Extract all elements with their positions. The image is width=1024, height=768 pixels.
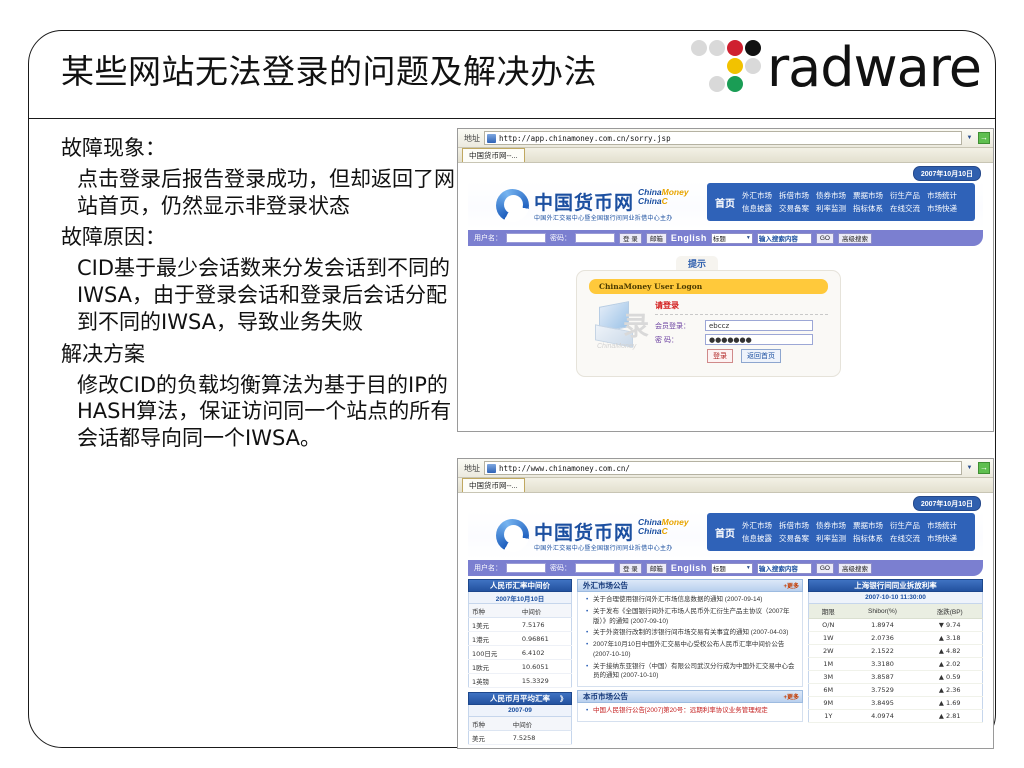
dialog-password-label: 密 码： xyxy=(655,335,705,345)
browser-screenshot-home: 地址 http://www.chinamoney.com.cn/ ▼ → 中国货… xyxy=(457,458,994,749)
nav-row-1: 外汇市场拆借市场债券市场票据市场衍生产品市场统计 xyxy=(742,190,957,201)
logo-dot-8 xyxy=(691,76,707,92)
logo-dot-2 xyxy=(727,40,743,56)
table-row: 1美元7.5176 xyxy=(469,618,572,632)
browser-tab-2[interactable]: 中国货币网--... xyxy=(462,478,525,492)
radware-dots-icon xyxy=(691,40,762,93)
table-row: 1港元0.96861 xyxy=(469,632,572,646)
brand-en: ChinaMoneyChinaC xyxy=(638,188,689,206)
mail-button[interactable]: 邮箱 xyxy=(646,233,667,244)
nav-link[interactable]: 债券市场 xyxy=(816,190,846,201)
address-url-text-2: http://www.chinamoney.com.cn/ xyxy=(499,464,630,473)
table-row: 1英镑15.3329 xyxy=(469,674,572,688)
logo-dot-7 xyxy=(745,58,761,74)
news-item[interactable]: 2007年10月10日中国外汇交易中心受权公布人民币汇率中间价公告 (2007-… xyxy=(586,640,799,660)
address-dropdown-icon-2[interactable]: ▼ xyxy=(964,462,975,475)
shibor-change-cell: ▲ 2.02 xyxy=(917,658,982,671)
news-item[interactable]: 中国人民银行公告[2007]第20号：远期利率协议业务管理规定 xyxy=(586,706,799,716)
avg-panel-title-text: 人民币月平均汇率 xyxy=(490,693,550,704)
column-header: 中间价 xyxy=(519,604,572,618)
logon-dialog: ChinaMoney User Logon 录 ChinaMoney 请登录 xyxy=(576,270,841,377)
logo-dot-3 xyxy=(745,40,761,56)
shibor-term-cell: 2W xyxy=(809,645,848,658)
nav-link[interactable]: 指标体系 xyxy=(853,533,883,544)
shibor-rate-cell: 4.0974 xyxy=(848,710,918,723)
shibor-panel-title: 上海银行间同业拆放利率 xyxy=(808,579,983,592)
shibor-table-header: 期限Shibor(%)涨跌(BP) xyxy=(809,604,983,619)
ghost-brand: ChinaMoney xyxy=(597,343,636,350)
main-nav-1: 首页 外汇市场拆借市场债券市场票据市场衍生产品市场统计 信息披露交易备案利率监测… xyxy=(707,183,975,221)
address-input[interactable]: http://app.chinamoney.com.cn/sorry.jsp xyxy=(484,131,962,145)
column-right: 上海银行间同业拆放利率 2007-10-10 11:30:00 期限Shibor… xyxy=(808,579,983,749)
logo-dot-1 xyxy=(709,40,725,56)
nav-row-4: 信息披露交易备案利率监测指标体系在线交流市场快递 xyxy=(742,533,957,544)
shibor-term-cell: 9M xyxy=(809,697,848,710)
rate-panel-date: 2007年10月10日 xyxy=(468,592,572,604)
logo-dot-4 xyxy=(691,58,707,74)
date-badge: 2007年10月10日 xyxy=(913,166,981,181)
password-input[interactable] xyxy=(575,233,615,243)
nav-link[interactable]: 债券市场 xyxy=(816,520,846,531)
ghost-char: 录 xyxy=(623,306,649,343)
divider xyxy=(655,314,828,315)
home-columns: 人民币汇率中间价 2007年10月10日 币种中间价 1美元7.51761港元0… xyxy=(458,576,993,749)
password-row: 密 码： ●●●●●●● xyxy=(655,334,828,345)
page-content-home: 2007年10月10日 中国货币网ChinaMoneyChinaC 中国外汇交易… xyxy=(458,493,993,749)
column-header: Shibor(%) xyxy=(848,604,918,619)
nav-home-link[interactable]: 首页 xyxy=(711,195,742,210)
chevron-down-icon-2: ▼ xyxy=(746,565,751,571)
radware-wordmark: radware xyxy=(767,41,981,95)
main-nav-2: 首页 外汇市场拆借市场债券市场票据市场衍生产品市场统计 信息披露交易备案利率监测… xyxy=(707,513,975,551)
avg-rate-table: 币种中间价 美元7.5258 xyxy=(468,717,572,745)
shibor-rate-cell: 1.8974 xyxy=(848,619,918,632)
column-header: 币种 xyxy=(469,717,510,731)
mail-button-2[interactable]: 邮箱 xyxy=(646,563,667,574)
table-row: 1Y4.0974▲ 2.81 xyxy=(809,710,983,723)
address-input-2[interactable]: http://www.chinamoney.com.cn/ xyxy=(484,461,962,475)
nav-link[interactable]: 市场统计 xyxy=(927,190,957,201)
chevron-down-icon: ▼ xyxy=(746,235,751,241)
page-icon xyxy=(487,134,496,143)
nav-link[interactable]: 衍生产品 xyxy=(890,190,920,201)
english-link[interactable]: English xyxy=(671,233,707,243)
login-button[interactable]: 登 录 xyxy=(619,233,642,244)
brand-cn-2: 中国货币网 xyxy=(534,522,634,544)
news-item[interactable]: 关于外资银行改制的涉银行间市场交易有关事宜的通知 (2007-04-03) xyxy=(586,628,799,638)
english-link-2[interactable]: English xyxy=(671,563,707,573)
monitor-illustration-icon: 录 ChinaMoney xyxy=(589,300,651,358)
shibor-change-cell: ▼ 9.74 xyxy=(917,619,982,632)
content-block-2: 解决方案修改CID的负载均衡算法为基于目的IP的HASH算法，保证访问同一个站点… xyxy=(61,341,456,452)
logo-dot-5 xyxy=(709,58,725,74)
avg-table-header: 币种中间价 xyxy=(469,717,572,731)
brand-names: 中国货币网ChinaMoneyChinaC 中国外汇交易中心暨全国银行间同业拆借… xyxy=(534,188,689,222)
logo-dot-9 xyxy=(709,76,725,92)
member-login-input[interactable]: ebccz xyxy=(705,320,813,331)
shibor-change-cell: ▲ 3.18 xyxy=(917,632,982,645)
table-cell: 0.96861 xyxy=(519,632,572,646)
table-cell: 7.5258 xyxy=(510,731,572,745)
password-label: 密码： xyxy=(550,233,571,243)
column-left: 人民币汇率中间价 2007年10月10日 币种中间价 1美元7.51761港元0… xyxy=(468,579,572,749)
shibor-term-cell: O/N xyxy=(809,619,848,632)
column-header: 期限 xyxy=(809,604,848,619)
search-go-button-2[interactable]: GO xyxy=(816,563,834,574)
rate-table: 币种中间价 1美元7.51761港元0.96861100日元6.41021欧元1… xyxy=(468,604,572,688)
tab-strip-2: 中国货币网--... xyxy=(458,478,993,493)
nav-link[interactable]: 外汇市场 xyxy=(742,520,772,531)
nav-link[interactable]: 交易备案 xyxy=(779,533,809,544)
logon-header: ChinaMoney User Logon xyxy=(589,279,828,294)
address-go-icon[interactable]: → xyxy=(978,132,990,144)
column-header: 币种 xyxy=(469,604,519,618)
news-item[interactable]: 关于合理使用银行间外汇市场信息数据的通知 (2007-09-14) xyxy=(586,595,799,605)
nav-link[interactable]: 市场快递 xyxy=(927,533,957,544)
address-bar-2[interactable]: 地址 http://www.chinamoney.com.cn/ ▼ → xyxy=(458,459,993,478)
table-row: 1欧元10.6051 xyxy=(469,660,572,674)
rate-panel: 人民币汇率中间价 2007年10月10日 币种中间价 1美元7.51761港元0… xyxy=(468,579,572,688)
avg-panel-title: 人民币月平均汇率 》 xyxy=(468,692,572,705)
brand-subtitle-2: 中国外汇交易中心暨全国银行间同业拆借中心主办 xyxy=(534,546,689,552)
logon-body: 录 ChinaMoney 请登录 会员登录： ebccz 密 码： xyxy=(589,300,828,363)
nav-row-3: 外汇市场拆借市场债券市场票据市场衍生产品市场统计 xyxy=(742,520,957,531)
brand-en-3b: China xyxy=(638,526,662,536)
address-label: 地址 xyxy=(464,133,480,144)
brand-subtitle: 中国外汇交易中心暨全国银行间同业拆借中心主办 xyxy=(534,216,689,222)
nav-link[interactable]: 拆借市场 xyxy=(779,190,809,201)
shibor-timestamp: 2007-10-10 11:30:00 xyxy=(808,592,983,604)
local-news-list: 中国人民银行公告[2007]第20号：远期利率协议业务管理规定 xyxy=(577,703,803,722)
content-block-1: 故障原因：CID基于最少会话数来分发会话到不同的IWSA，由于登录会话和登录后会… xyxy=(61,224,456,335)
dialog-password-input[interactable]: ●●●●●●● xyxy=(705,334,813,345)
banner-search-bar-2: 用户名： 密码： 登 录 邮箱 English 标题 ▼ 输入搜索内容 GO 高… xyxy=(468,560,983,576)
table-row: 1W2.0736▲ 3.18 xyxy=(809,632,983,645)
avg-table-body: 美元7.5258 xyxy=(469,731,572,745)
table-row: 1M3.3180▲ 2.02 xyxy=(809,658,983,671)
nav-link[interactable]: 票据市场 xyxy=(853,520,883,531)
rate-table-body: 1美元7.51761港元0.96861100日元6.41021欧元10.6051… xyxy=(469,618,572,688)
table-cell: 7.5176 xyxy=(519,618,572,632)
slide-title-bar: 某些网站无法登录的问题及解决办法 radware xyxy=(29,31,995,119)
site-banner: 中国货币网ChinaMoneyChinaC 中国外汇交易中心暨全国银行间同业拆借… xyxy=(468,181,983,229)
brand-en-3: China xyxy=(638,196,662,206)
table-cell: 1港元 xyxy=(469,632,519,646)
nav-link[interactable]: 拆借市场 xyxy=(779,520,809,531)
content-body-0: 点击登录后报告登录成功，但却返回了网站首页，仍然显示非登录状态 xyxy=(77,166,456,220)
username-input-2[interactable] xyxy=(506,563,546,573)
banner-search-bar-1: 用户名： 密码： 登 录 邮箱 English 标题 ▼ 输入搜索内容 GO 高… xyxy=(468,230,983,246)
news-item[interactable]: 关于接纳东亚银行（中国）有限公司武汉分行成为中国外汇交易中心会员的通知 (200… xyxy=(586,662,799,682)
content-body-2: 修改CID的负载均衡算法为基于目的IP的HASH算法，保证访问同一个站点的所有会… xyxy=(77,372,456,453)
please-login-text: 请登录 xyxy=(655,300,828,311)
search-scope-select-2[interactable]: 标题 ▼ xyxy=(711,563,753,574)
chinamoney-banner-wrap-1: 2007年10月10日 中国货币网ChinaMoneyChinaC 中国外汇交易… xyxy=(458,163,993,246)
logon-buttons: 登录 返回首页 xyxy=(707,349,828,363)
browser-tab[interactable]: 中国货币网--... xyxy=(462,148,525,162)
address-url-text: http://app.chinamoney.com.cn/sorry.jsp xyxy=(499,134,671,143)
more-arrow-icon[interactable]: 》 xyxy=(560,694,567,704)
avg-rate-panel: 人民币月平均汇率 》 2007-09 币种中间价 美元7.5258 xyxy=(468,692,572,745)
brand-en-4: C xyxy=(662,196,668,206)
content-heading-2: 解决方案 xyxy=(61,341,456,369)
address-label-2: 地址 xyxy=(464,463,480,474)
slide-body-text: 故障现象：点击登录后报告登录成功，但却返回了网站首页，仍然显示非登录状态故障原因… xyxy=(61,135,456,457)
radware-logo: radware xyxy=(691,41,981,95)
browser-screenshot-login: 地址 http://app.chinamoney.com.cn/sorry.js… xyxy=(457,128,994,432)
shibor-rate-cell: 3.7529 xyxy=(848,684,918,697)
submit-login-button[interactable]: 登录 xyxy=(707,349,733,363)
shibor-term-cell: 1W xyxy=(809,632,848,645)
search-go-button[interactable]: GO xyxy=(816,233,834,244)
swirl-icon xyxy=(496,189,529,222)
shibor-table-body: O/N1.8974▼ 9.741W2.0736▲ 3.182W2.1522▲ 4… xyxy=(809,619,983,723)
nav-link[interactable]: 衍生产品 xyxy=(890,520,920,531)
search-scope-select[interactable]: 标题 ▼ xyxy=(711,233,753,244)
tab-strip: 中国货币网--... xyxy=(458,148,993,163)
shibor-change-cell: ▲ 2.81 xyxy=(917,710,982,723)
advanced-search-button[interactable]: 高级搜索 xyxy=(838,233,872,244)
column-middle: 外汇市场公告 +更多 关于合理使用银行间外汇市场信息数据的通知 (2007-09… xyxy=(577,579,803,749)
nav-link[interactable]: 利率监测 xyxy=(816,533,846,544)
rate-table-header: 币种中间价 xyxy=(469,604,572,618)
member-login-label: 会员登录： xyxy=(655,321,705,331)
brand-en-alt: ChinaMoneyChinaC xyxy=(638,518,689,536)
nav-link[interactable]: 信息披露 xyxy=(742,203,772,214)
shibor-rate-cell: 2.1522 xyxy=(848,645,918,658)
content-heading-0: 故障现象： xyxy=(61,135,456,163)
search-scope-value: 标题 xyxy=(713,233,726,243)
table-cell: 1欧元 xyxy=(469,660,519,674)
shibor-term-cell: 6M xyxy=(809,684,848,697)
username-label-2: 用户名： xyxy=(474,563,502,573)
content-block-0: 故障现象：点击登录后报告登录成功，但却返回了网站首页，仍然显示非登录状态 xyxy=(61,135,456,219)
nav-link[interactable]: 外汇市场 xyxy=(742,190,772,201)
rate-panel-title: 人民币汇率中间价 xyxy=(468,579,572,592)
password-input-2[interactable] xyxy=(575,563,615,573)
table-cell: 15.3329 xyxy=(519,674,572,688)
table-cell: 100日元 xyxy=(469,646,519,660)
table-cell: 10.6051 xyxy=(519,660,572,674)
table-row: O/N1.8974▼ 9.74 xyxy=(809,619,983,632)
nav-link[interactable]: 市场统计 xyxy=(927,520,957,531)
nav-link[interactable]: 交易备案 xyxy=(779,203,809,214)
shibor-change-cell: ▲ 0.59 xyxy=(917,671,982,684)
table-row: 2W2.1522▲ 4.82 xyxy=(809,645,983,658)
shibor-rate-cell: 3.3180 xyxy=(848,658,918,671)
content-heading-1: 故障原因： xyxy=(61,224,456,252)
brand-names-2: 中国货币网ChinaMoneyChinaC 中国外汇交易中心暨全国银行间同业拆借… xyxy=(534,518,689,552)
fx-news-header: 外汇市场公告 +更多 xyxy=(577,579,803,592)
avg-panel-date: 2007-09 xyxy=(468,705,572,717)
search-scope-value-2: 标题 xyxy=(713,563,726,573)
date-badge-2: 2007年10月10日 xyxy=(913,496,981,511)
nav-link[interactable]: 在线交流 xyxy=(890,203,920,214)
logon-fields: 请登录 会员登录： ebccz 密 码： ●●●●●●● xyxy=(651,300,828,363)
fx-news-list: 关于合理使用银行间外汇市场信息数据的通知 (2007-09-14)关于发布《全国… xyxy=(577,592,803,687)
local-news-title: 本币市场公告 xyxy=(583,691,628,702)
login-button-2[interactable]: 登 录 xyxy=(619,563,642,574)
address-bar[interactable]: 地址 http://app.chinamoney.com.cn/sorry.js… xyxy=(458,129,993,148)
shibor-rate-cell: 2.0736 xyxy=(848,632,918,645)
local-news-more-link[interactable]: +更多 xyxy=(783,692,799,701)
table-row: 6M3.7529▲ 2.36 xyxy=(809,684,983,697)
page-title: 某些网站无法登录的问题及解决办法 xyxy=(61,45,597,93)
shibor-term-cell: 1M xyxy=(809,658,848,671)
shibor-rate-cell: 3.8495 xyxy=(848,697,918,710)
slide-frame: 某些网站无法登录的问题及解决办法 radware 故障现象：点击登录后报告登录成… xyxy=(28,30,996,748)
username-label: 用户名： xyxy=(474,233,502,243)
shibor-rate-cell: 3.8587 xyxy=(848,671,918,684)
nav-link[interactable]: 指标体系 xyxy=(853,203,883,214)
table-cell: 美元 xyxy=(469,731,510,745)
shibor-term-cell: 1Y xyxy=(809,710,848,723)
brand-cn: 中国货币网 xyxy=(534,192,634,214)
nav-link[interactable]: 在线交流 xyxy=(890,533,920,544)
shibor-term-cell: 3M xyxy=(809,671,848,684)
logo-dot-11 xyxy=(745,76,761,92)
nav-links-1: 外汇市场拆借市场债券市场票据市场衍生产品市场统计 信息披露交易备案利率监测指标体… xyxy=(742,190,957,214)
member-login-row: 会员登录： ebccz xyxy=(655,320,828,331)
logo-dot-6 xyxy=(727,58,743,74)
table-cell: 1美元 xyxy=(469,618,519,632)
chinamoney-logo-2[interactable]: 中国货币网ChinaMoneyChinaC 中国外汇交易中心暨全国银行间同业拆借… xyxy=(468,518,689,552)
nav-home-link-2[interactable]: 首页 xyxy=(711,525,742,540)
table-row: 9M3.8495▲ 1.69 xyxy=(809,697,983,710)
nav-link[interactable]: 票据市场 xyxy=(853,190,883,201)
back-home-button[interactable]: 返回首页 xyxy=(741,349,781,363)
nav-link[interactable]: 信息披露 xyxy=(742,533,772,544)
advanced-search-button-2[interactable]: 高级搜索 xyxy=(838,563,872,574)
site-banner-2: 中国货币网ChinaMoneyChinaC 中国外汇交易中心暨全国银行间同业拆借… xyxy=(468,511,983,559)
fx-news-title: 外汇市场公告 xyxy=(583,580,628,591)
brand-en-4b: C xyxy=(662,526,668,536)
username-input[interactable] xyxy=(506,233,546,243)
fx-news-more-link[interactable]: +更多 xyxy=(783,581,799,590)
table-row: 3M3.8587▲ 0.59 xyxy=(809,671,983,684)
news-item[interactable]: 关于发布《全国银行间外汇市场人民币外汇衍生产品主协议（2007年版）》的通知 (… xyxy=(586,607,799,627)
logo-dot-10 xyxy=(727,76,743,92)
address-dropdown-icon[interactable]: ▼ xyxy=(964,132,975,145)
chinamoney-logo[interactable]: 中国货币网ChinaMoneyChinaC 中国外汇交易中心暨全国银行间同业拆借… xyxy=(468,188,689,222)
content-body-1: CID基于最少会话数来分发会话到不同的IWSA，由于登录会话和登录后会话分配到不… xyxy=(77,255,456,336)
tip-tab: 提示 xyxy=(676,256,718,271)
table-row: 美元7.5258 xyxy=(469,731,572,745)
table-cell: 1英镑 xyxy=(469,674,519,688)
page-content-login: 2007年10月10日 中国货币网ChinaMoneyChinaC 中国外汇交易… xyxy=(458,163,993,394)
swirl-icon-2 xyxy=(496,519,529,552)
table-row: 100日元6.4102 xyxy=(469,646,572,660)
page-icon-2 xyxy=(487,464,496,473)
nav-links-2: 外汇市场拆借市场债券市场票据市场衍生产品市场统计 信息披露交易备案利率监测指标体… xyxy=(742,520,957,544)
shibor-change-cell: ▲ 4.82 xyxy=(917,645,982,658)
password-label-2: 密码： xyxy=(550,563,571,573)
shibor-change-cell: ▲ 2.36 xyxy=(917,684,982,697)
column-header: 涨跌(BP) xyxy=(917,604,982,619)
logo-dot-0 xyxy=(691,40,707,56)
nav-link[interactable]: 利率监测 xyxy=(816,203,846,214)
search-input-2[interactable]: 输入搜索内容 xyxy=(757,563,812,574)
chinamoney-banner-wrap-2: 2007年10月10日 中国货币网ChinaMoneyChinaC 中国外汇交易… xyxy=(458,493,993,576)
local-news-header: 本币市场公告 +更多 xyxy=(577,690,803,703)
shibor-change-cell: ▲ 1.69 xyxy=(917,697,982,710)
nav-link[interactable]: 市场快递 xyxy=(927,203,957,214)
column-header: 中间价 xyxy=(510,717,572,731)
shibor-table: 期限Shibor(%)涨跌(BP) O/N1.8974▼ 9.741W2.073… xyxy=(808,604,983,723)
address-go-icon-2[interactable]: → xyxy=(978,462,990,474)
nav-row-2: 信息披露交易备案利率监测指标体系在线交流市场快递 xyxy=(742,203,957,214)
table-cell: 6.4102 xyxy=(519,646,572,660)
search-input[interactable]: 输入搜索内容 xyxy=(757,233,812,244)
